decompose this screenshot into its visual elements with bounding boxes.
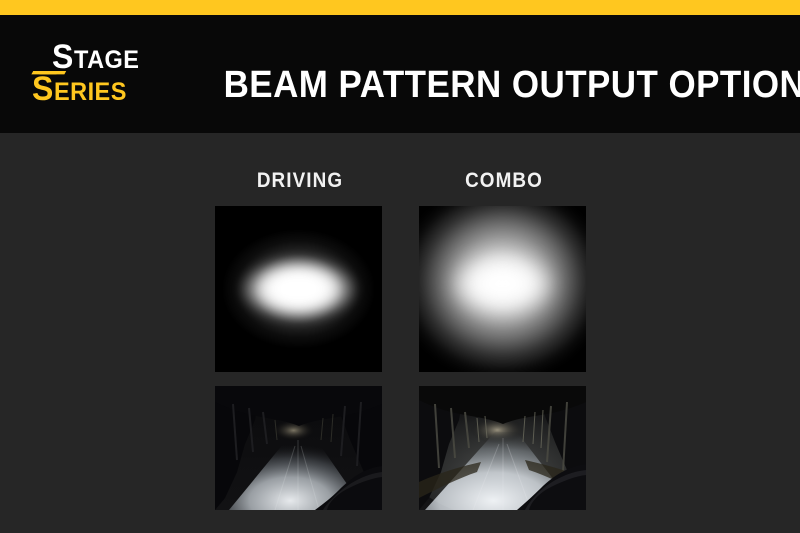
- combo-road-photo: [419, 386, 586, 510]
- combo-beam-pattern: [419, 206, 586, 372]
- svg-text:S: S: [52, 37, 73, 75]
- column-label-combo: COMBO: [428, 168, 581, 194]
- svg-text:TAGE: TAGE: [74, 46, 139, 74]
- stage-series-logo: S TAGE S ERIES: [24, 30, 184, 110]
- driving-beam-pattern: [215, 206, 382, 372]
- column-label-driving: DRIVING: [224, 168, 377, 194]
- beam-pattern-infographic: S TAGE S ERIES BEAM PATTERN OUTPUT OPTIO…: [0, 0, 800, 533]
- accent-top-bar: [0, 0, 800, 15]
- combo-beam-hotspot: [449, 252, 556, 315]
- driving-beam-hotspot: [238, 256, 358, 322]
- page-title: BEAM PATTERN OUTPUT OPTIONS: [224, 63, 767, 107]
- driving-road-photo: [215, 386, 382, 510]
- svg-text:ERIES: ERIES: [54, 78, 127, 106]
- svg-text:S: S: [32, 69, 53, 107]
